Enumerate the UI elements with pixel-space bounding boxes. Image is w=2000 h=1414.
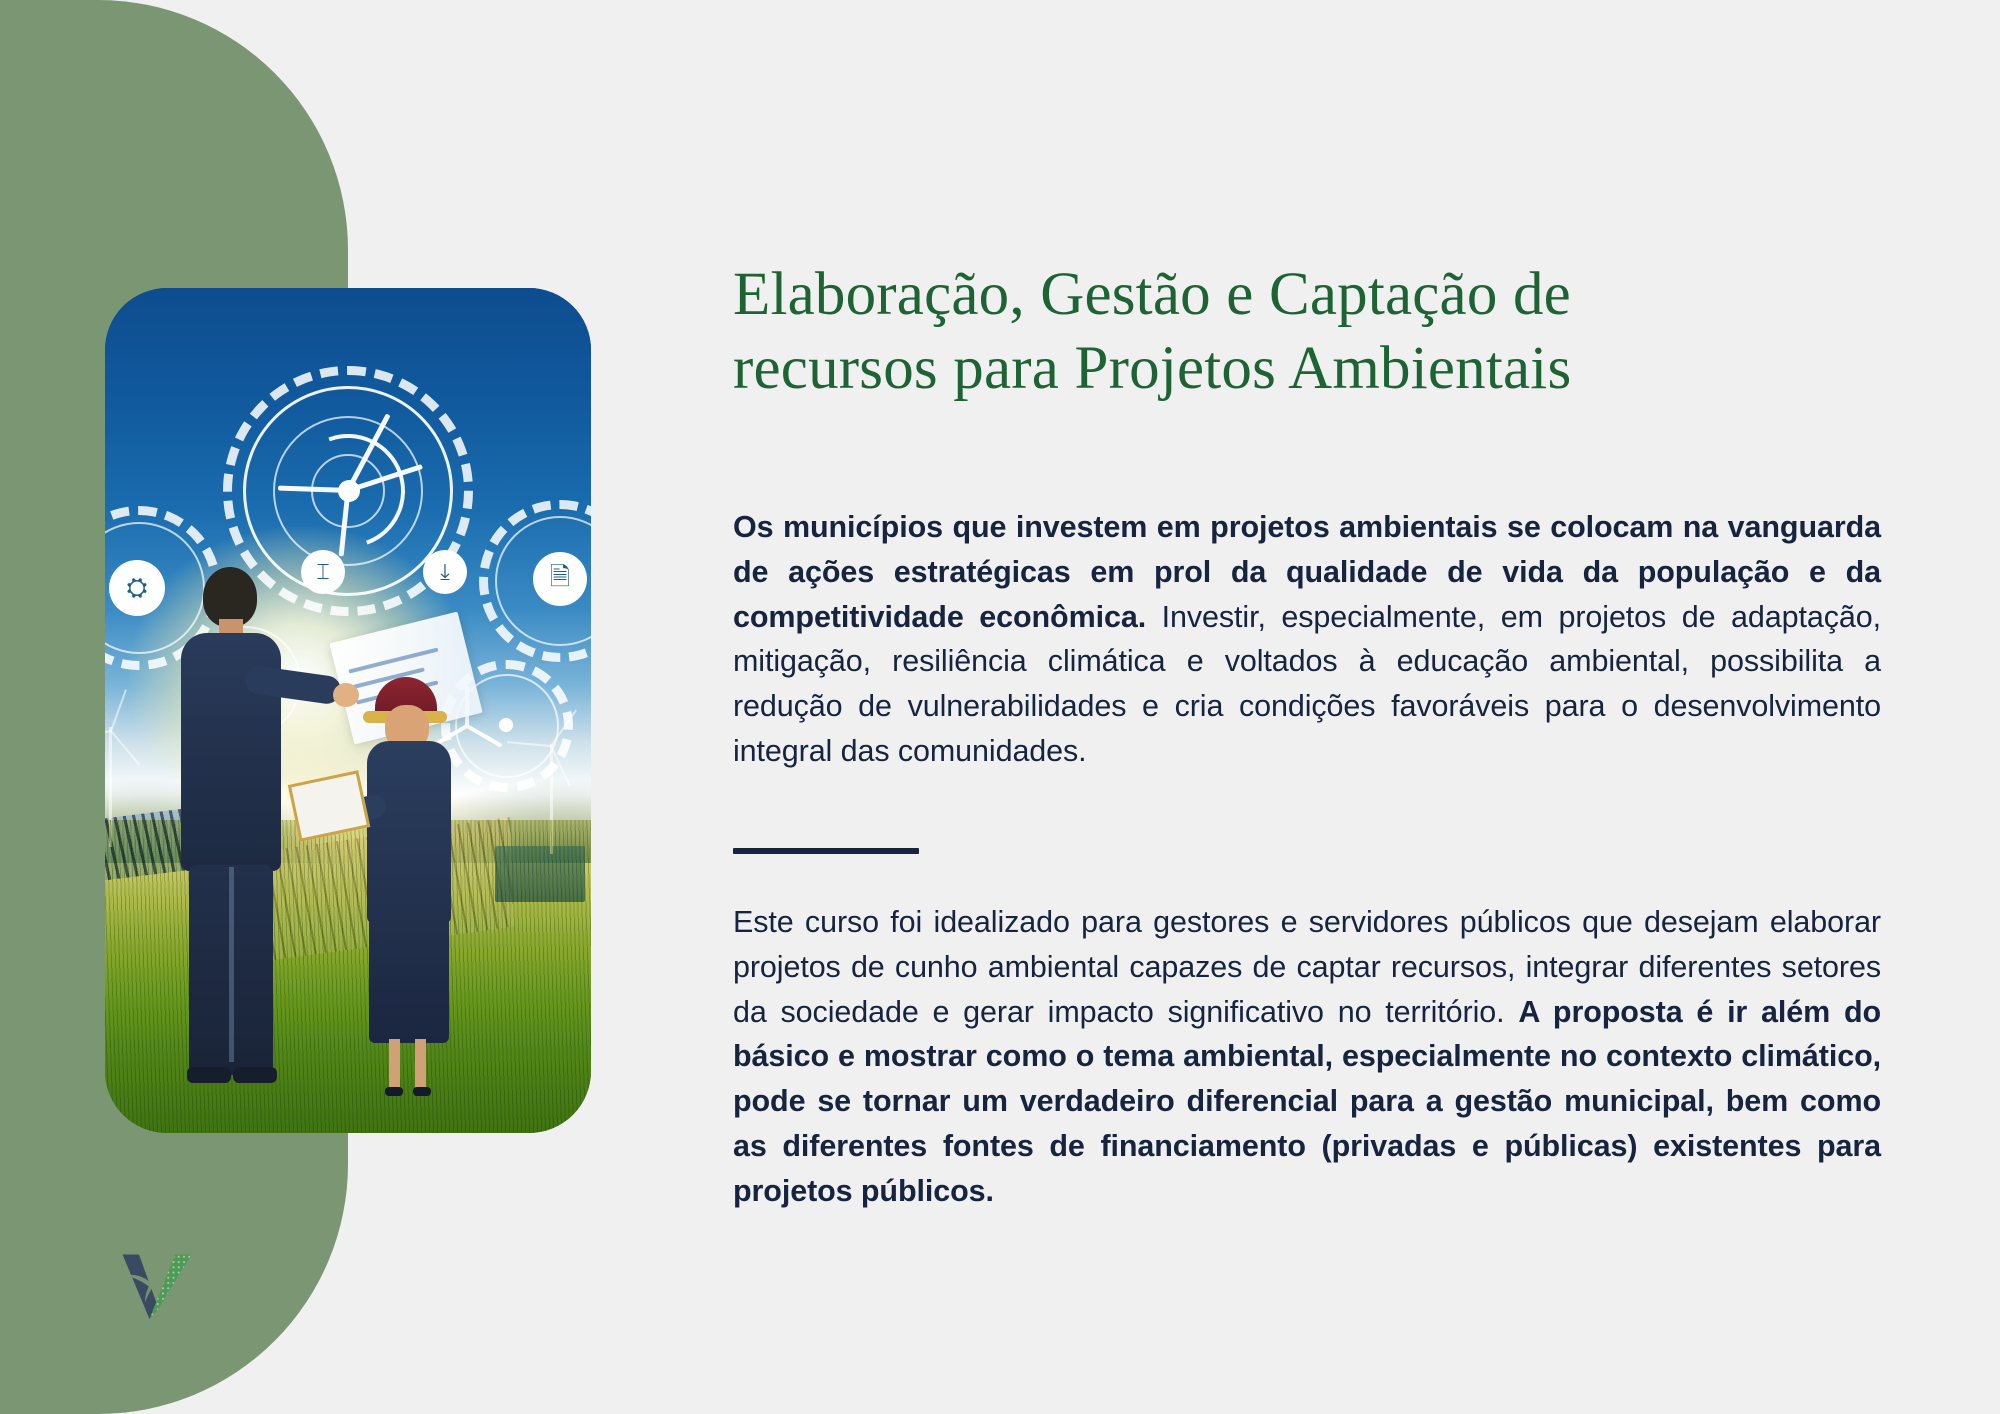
- paragraph-1-block: Os municípios que investem em projetos a…: [733, 505, 1881, 774]
- content-column: Elaboração, Gestão e Captação de recurso…: [733, 0, 1866, 1414]
- v-leaf-logo: [119, 1250, 195, 1322]
- figure-engineer-woman: [353, 677, 461, 1107]
- slide-canvas: ⌶ ⤓ ⛭ 🗎: [0, 0, 2000, 1414]
- figure-engineer-man: [173, 567, 291, 1087]
- page-title: Elaboração, Gestão e Captação de recurso…: [733, 258, 1733, 407]
- hero-photo-image: ⌶ ⤓ ⛭ 🗎: [105, 288, 591, 1133]
- paragraph-2: Este curso foi idealizado para gestores …: [733, 900, 1881, 1214]
- document-icon: 🗎: [533, 552, 587, 606]
- download-icon: ⤓: [423, 550, 467, 594]
- hero-photo-card: ⌶ ⤓ ⛭ 🗎: [105, 288, 591, 1133]
- page-title-line-2: recursos para Projetos Ambientais: [733, 335, 1571, 402]
- page-title-line-1: Elaboração, Gestão e Captação de: [733, 261, 1571, 328]
- factory-icon: ⛭: [109, 560, 165, 616]
- gauge-icon: ⌶: [301, 550, 345, 594]
- section-divider: [733, 848, 919, 854]
- paragraph-2-block: Este curso foi idealizado para gestores …: [733, 900, 1881, 1214]
- paragraph-1: Os municípios que investem em projetos a…: [733, 505, 1881, 774]
